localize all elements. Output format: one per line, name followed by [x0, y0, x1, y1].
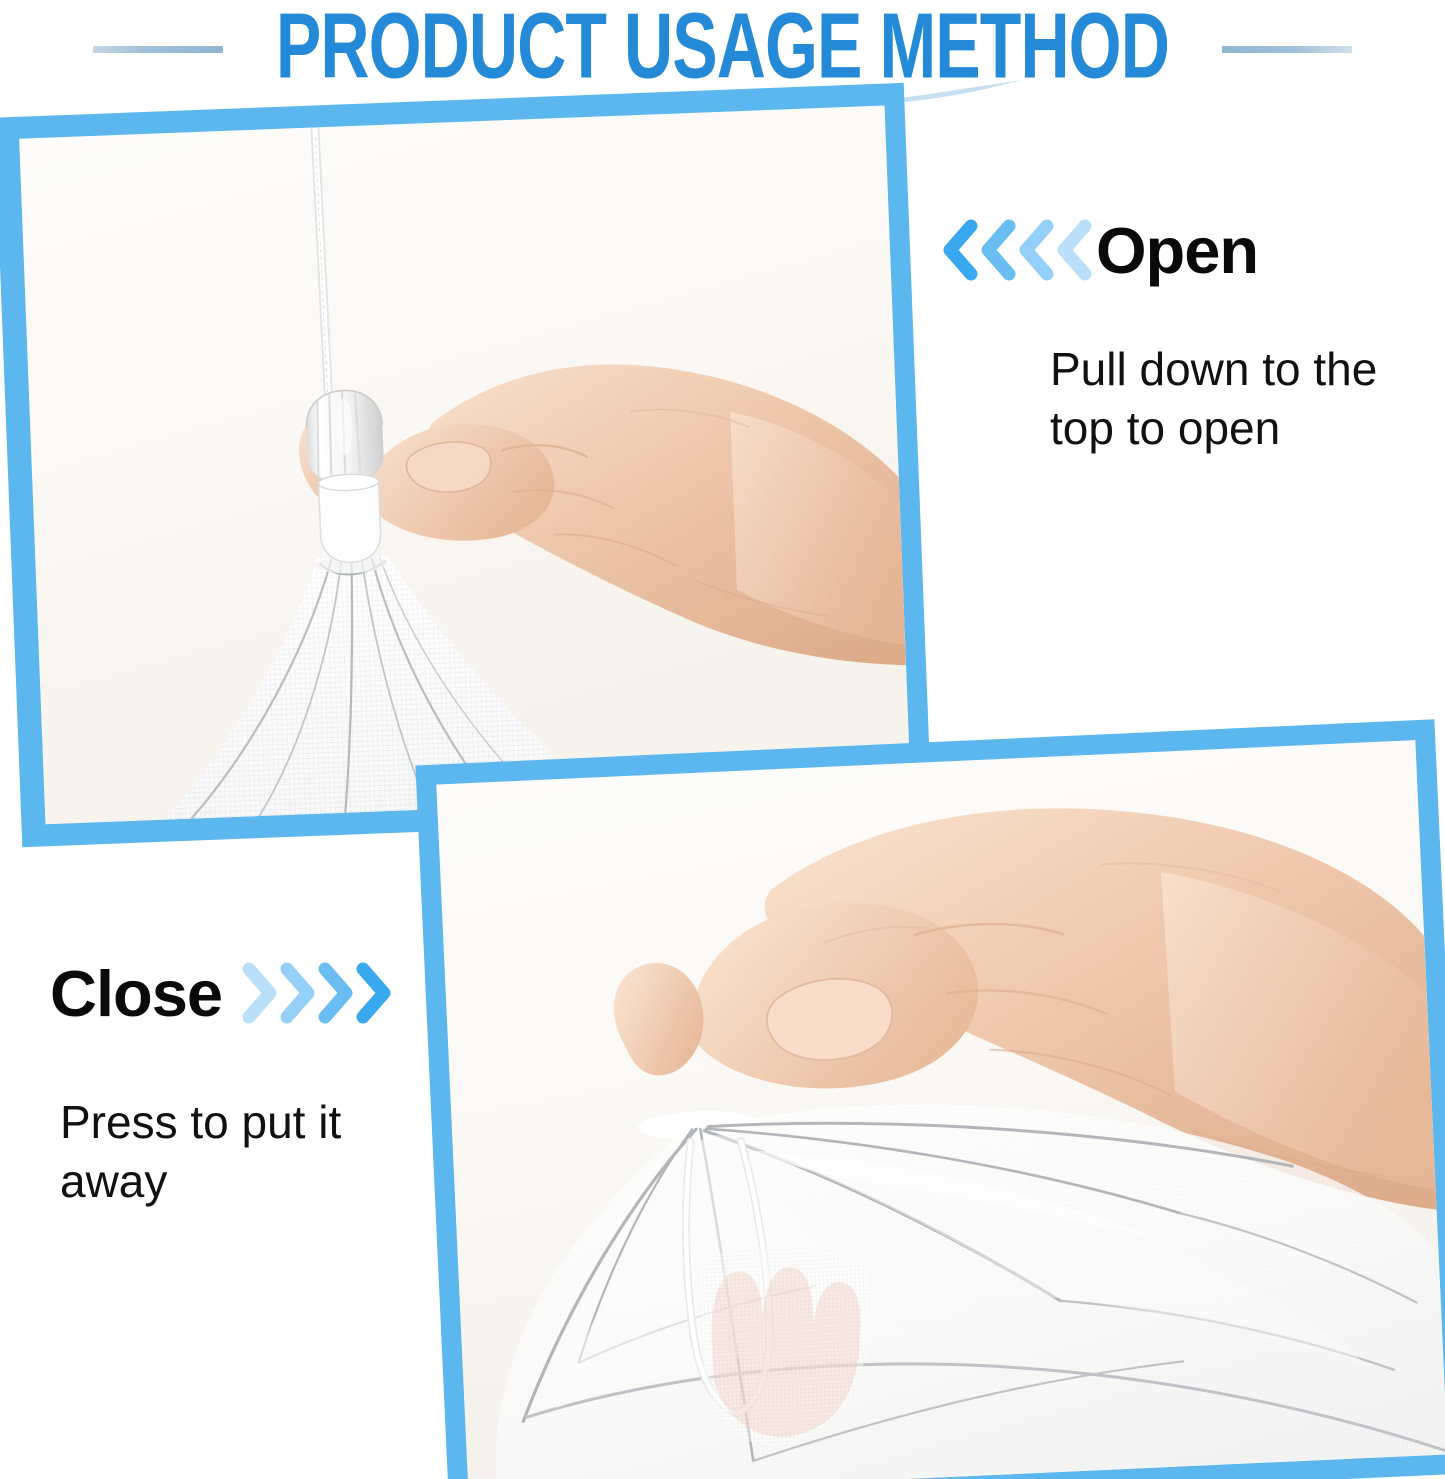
chevron-left-icon-4 [1052, 219, 1096, 281]
step-open-instruction: Pull down to the top to open [1050, 340, 1438, 458]
step-close-header: Close [50, 955, 470, 1031]
photo-frame-close-step [415, 719, 1445, 1479]
step-close: Close Press to put it away [50, 955, 470, 1211]
step-open: Open Pull down to the top to open [938, 212, 1438, 458]
title-dash-right-icon [1222, 46, 1352, 53]
title-dash-left-icon [93, 46, 223, 53]
page-title: PRODUCT USAGE METHOD [263, 0, 1182, 93]
step-close-instruction: Press to put it away [60, 1093, 470, 1211]
chevron-right-icon-4 [352, 962, 396, 1024]
page-title-row: PRODUCT USAGE METHOD [0, 0, 1445, 92]
chevrons-left-icon [938, 219, 1090, 281]
closed-food-cover-illustration [19, 106, 911, 825]
photo-close-step [436, 740, 1445, 1479]
step-open-header: Open [938, 212, 1438, 288]
open-food-cover-illustration [436, 740, 1445, 1479]
infographic-canvas: PRODUCT USAGE METHOD [0, 0, 1445, 1479]
chevrons-right-icon [238, 962, 390, 1024]
step-open-label: Open [1096, 218, 1258, 283]
step-close-label: Close [50, 961, 222, 1026]
photo-frame-open-step [0, 83, 932, 847]
photo-open-step [19, 106, 911, 825]
